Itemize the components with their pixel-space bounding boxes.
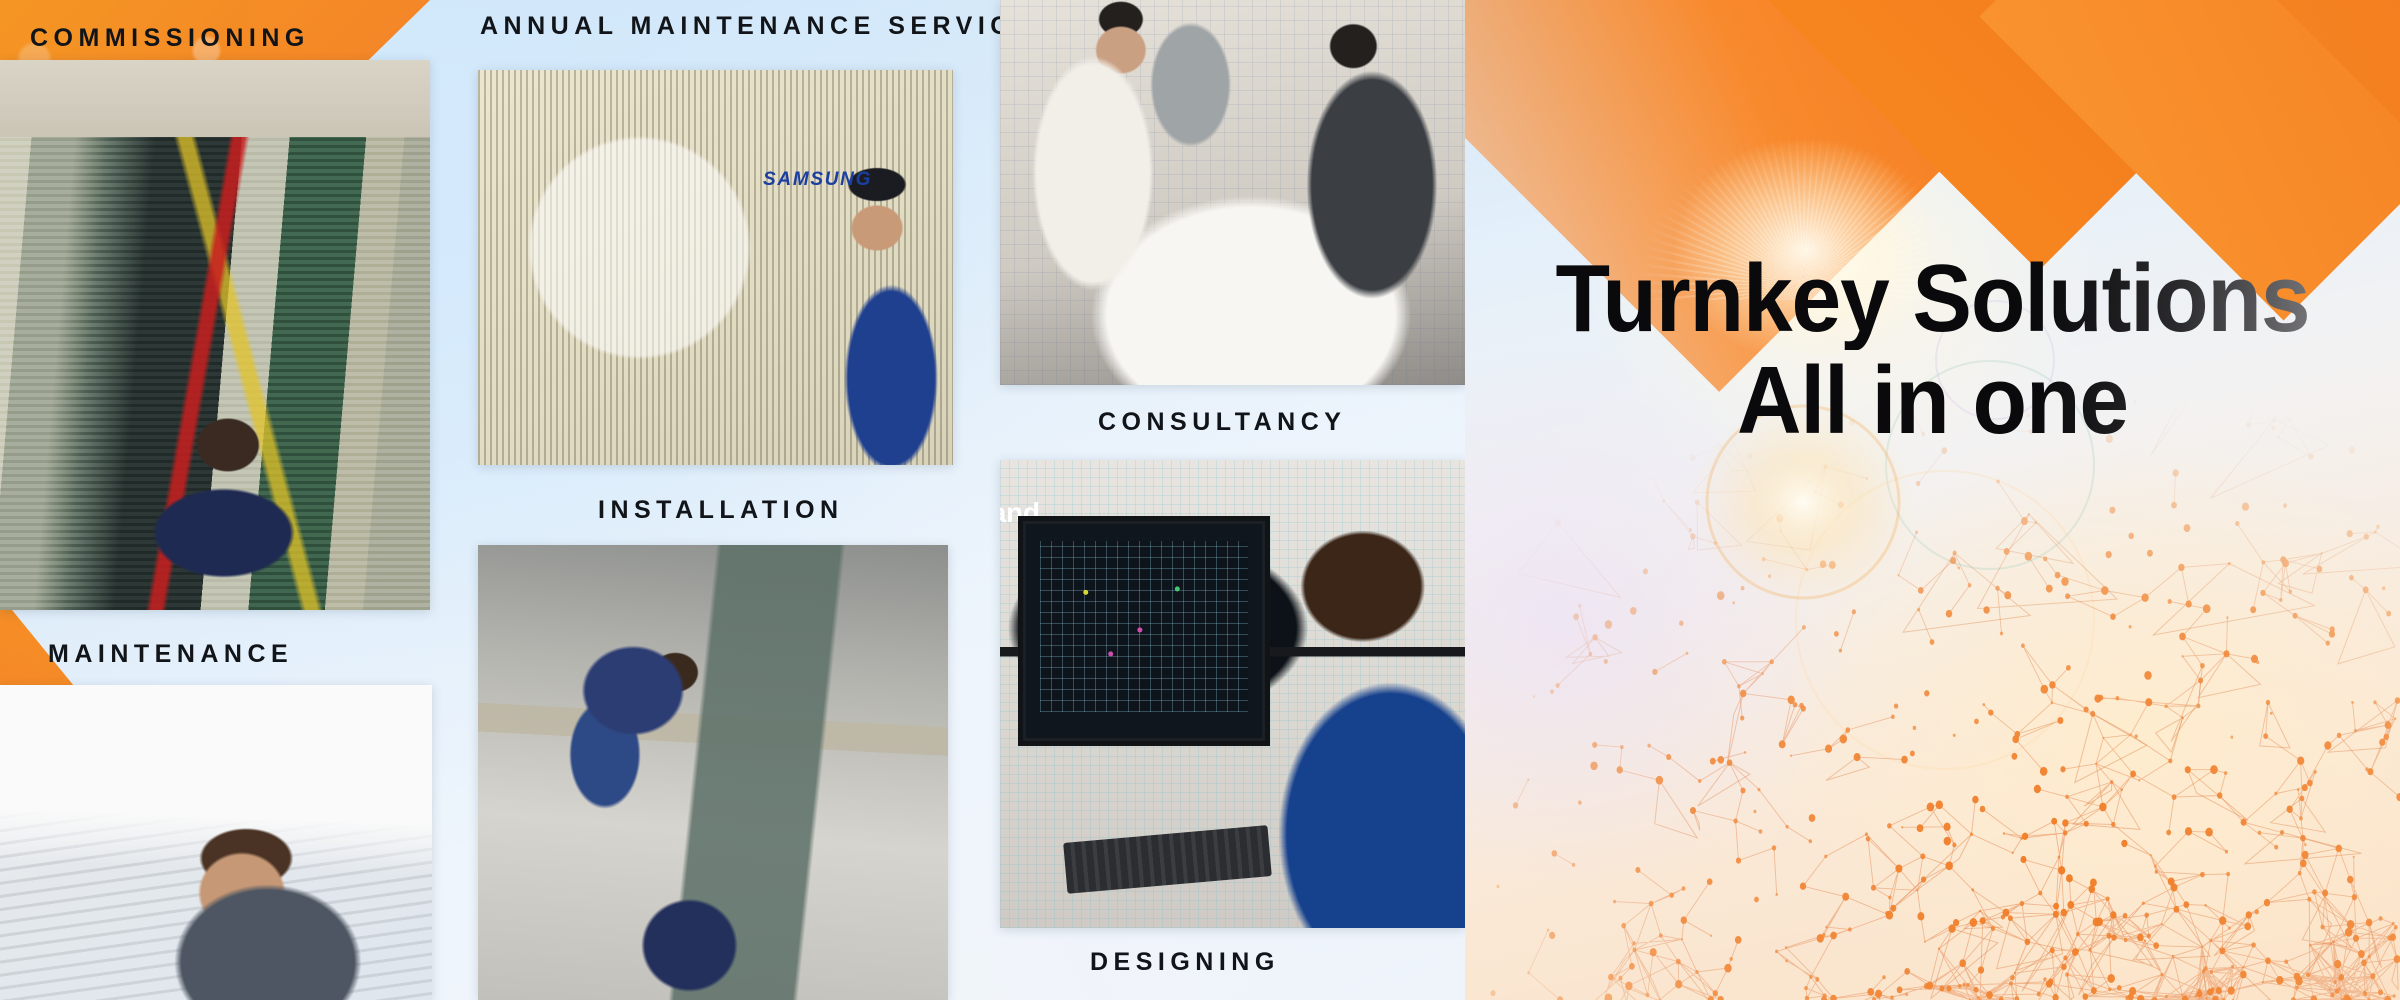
photo-designing: and: [1000, 460, 1465, 928]
photo-annual-maintenance-services: SAMSUNG: [478, 70, 953, 465]
label-designing: DESIGNING: [1090, 948, 1280, 977]
photo-commissioning: [0, 60, 430, 610]
samsung-brand-mark: SAMSUNG: [763, 169, 872, 191]
photo-maintenance: [0, 685, 432, 1000]
service-banner: COMMISSIONING MAINTENANCE ANNUAL MAINTEN…: [0, 0, 2400, 1000]
label-maintenance: MAINTENANCE: [48, 640, 293, 669]
photo-commissioning-image: [0, 60, 430, 610]
label-commissioning: COMMISSIONING: [30, 24, 310, 53]
network-particle-graphic-icon: [1465, 380, 2400, 1000]
light-glow-icon: [1675, 140, 1935, 360]
photo-installation-image: [478, 545, 948, 1000]
photo-ams-image: [478, 70, 953, 465]
label-consultancy: CONSULTANCY: [1098, 408, 1346, 437]
photo-consultancy-image: [1000, 0, 1465, 385]
monitor-screen-icon: [1023, 521, 1265, 741]
label-installation: INSTALLATION: [598, 496, 844, 525]
photo-maintenance-image: [0, 685, 432, 1000]
hero-panel: Turnkey Solutions All in one: [1465, 0, 2400, 1000]
label-annual-maintenance-services: ANNUAL MAINTENANCE SERVICES: [480, 12, 1058, 41]
photo-consultancy: [1000, 0, 1465, 385]
cad-drawing-icon: [1040, 541, 1248, 712]
photo-installation: [478, 545, 948, 1000]
